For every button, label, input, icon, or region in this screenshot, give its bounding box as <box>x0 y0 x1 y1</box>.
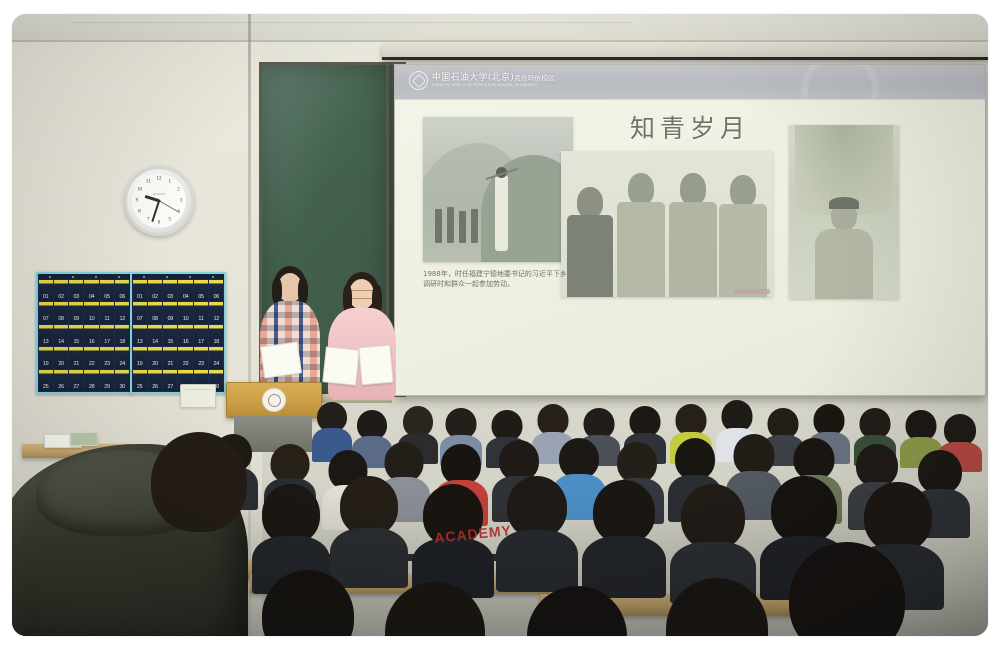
pocket-number: 17 <box>104 340 110 347</box>
presentation-slide: 中国石油大学(北京)克拉玛依校区 CHINA UNIVERSITY OF PET… <box>395 65 985 395</box>
pocket-cell: 20 <box>148 347 162 369</box>
pocket-cell: 19 <box>39 347 53 369</box>
pocket-cell: 16 <box>178 325 192 347</box>
caption-rural-inspection: 1988年，时任福建宁德地委书记的习近平下乡调研时和群众一起参加劳动。 <box>423 269 573 289</box>
pocket-cell: 05 <box>194 280 208 302</box>
pocket-number: 13 <box>137 340 143 347</box>
slide-title: 知青岁月 <box>630 109 750 145</box>
pocket-row: 19 20 21 22 23 24 <box>38 347 130 370</box>
pocket-number: 10 <box>183 317 189 324</box>
pocket-cell: 24 <box>209 347 223 369</box>
pocket-number: 11 <box>104 317 109 324</box>
presenter-left <box>258 266 322 396</box>
header-watermark-ring <box>801 65 879 100</box>
student-head <box>789 542 905 636</box>
pocket-row: 13 14 15 16 17 18 <box>38 324 130 347</box>
pocket-cell: 10 <box>84 302 98 324</box>
presenter-right <box>328 272 398 400</box>
pocket-number: 09 <box>74 317 80 324</box>
list-item <box>772 542 922 636</box>
pocket-cell: 18 <box>115 325 129 347</box>
wall-seam <box>248 14 251 636</box>
pocket-number: 11 <box>198 317 203 324</box>
pocket-cell: 12 <box>115 302 129 324</box>
pocket-cell: 11 <box>194 302 208 324</box>
pocket-cell: 09 <box>69 302 83 324</box>
pocket-cell: 21 <box>163 347 177 369</box>
pocket-number: 08 <box>152 317 158 324</box>
pocket-cell: 13 <box>133 325 147 347</box>
student-head <box>559 438 599 479</box>
university-name-paren: (北京) <box>488 73 514 83</box>
clock-number-5: 5 <box>169 218 172 223</box>
youth-body <box>669 202 717 297</box>
pocket-cell: 27 <box>163 370 177 392</box>
ceiling-panel-line <box>72 22 632 23</box>
pocket-cell: 22 <box>178 347 192 369</box>
pocket-cell: 18 <box>209 325 223 347</box>
portrait-cap <box>829 197 859 209</box>
student-head <box>262 484 320 544</box>
pocket-number: 27 <box>74 385 80 392</box>
university-name-cn: 中国石油大学(北京)克拉玛依校区 <box>432 74 555 83</box>
student-head <box>734 434 775 476</box>
pocket-cell: 14 <box>54 325 68 347</box>
pocket-number: 20 <box>58 362 64 369</box>
pocket-number: 01 <box>137 295 143 302</box>
pocket-number: 06 <box>120 295 126 302</box>
pocket-cell: 23 <box>100 347 114 369</box>
pocket-cell: 06 <box>115 280 129 302</box>
pocket-number: 03 <box>168 295 174 302</box>
pocket-cell: 26 <box>54 370 68 392</box>
pocket-cell: 15 <box>163 325 177 347</box>
pocket-number: 15 <box>74 340 80 347</box>
worker-figure <box>471 209 478 243</box>
student-head <box>675 438 715 480</box>
youth-figure <box>617 173 665 297</box>
pocket-cell: 07 <box>133 302 147 324</box>
pocket-row: 07 08 09 10 11 12 <box>38 302 130 325</box>
pocket-number: 01 <box>43 295 49 302</box>
university-name-main: 中国石油大学 <box>432 73 488 83</box>
pocket-number: 18 <box>214 340 220 347</box>
clock-minute-hand <box>151 201 160 223</box>
youth-figure <box>567 187 613 297</box>
image-frame: 12 1 2 3 4 5 6 7 8 9 10 11 QUARTZ 01 02 … <box>0 0 1000 666</box>
university-logo-text: 中国石油大学(北京)克拉玛依校区 CHINA UNIVERSITY OF PET… <box>432 74 555 88</box>
youth-body <box>719 204 767 297</box>
university-name-en: CHINA UNIVERSITY OF PETROLEUM, BEIJING, … <box>432 84 555 87</box>
pocket-number: 13 <box>43 340 49 347</box>
worker-figure <box>435 209 442 243</box>
pocket-number: 27 <box>168 385 174 392</box>
pocket-number: 07 <box>43 317 49 324</box>
pocket-cell: 11 <box>100 302 114 324</box>
pocket-number: 16 <box>89 340 95 347</box>
classroom-photograph: 12 1 2 3 4 5 6 7 8 9 10 11 QUARTZ 01 02 … <box>12 14 988 636</box>
pocket-cell: 04 <box>84 280 98 302</box>
pocket-number: 04 <box>183 295 189 302</box>
pocket-number: 20 <box>152 362 158 369</box>
pocket-number: 22 <box>89 362 95 369</box>
student-head <box>262 570 354 636</box>
clock-center-pin <box>158 200 161 203</box>
pocket-cell: 19 <box>133 347 147 369</box>
pocket-cell: 09 <box>163 302 177 324</box>
pocket-cell: 14 <box>148 325 162 347</box>
pocket-number: 09 <box>168 317 174 324</box>
pocket-number: 25 <box>43 385 49 392</box>
pocket-cell: 15 <box>69 325 83 347</box>
pocket-number: 05 <box>198 295 204 302</box>
photo-date-stamp <box>734 289 770 294</box>
pocket-row: 19 20 21 22 23 24 <box>132 347 224 370</box>
pocket-cell: 02 <box>54 280 68 302</box>
pocket-cell: 21 <box>69 347 83 369</box>
pocket-number: 17 <box>198 340 204 347</box>
phone-pocket-chart-right: 01 02 03 04 05 06 07 08 09 10 11 12 13 1… <box>130 272 226 394</box>
clock-number-12: 12 <box>157 176 162 181</box>
pocket-number: 15 <box>168 340 174 347</box>
list-item <box>512 586 642 636</box>
student-head <box>151 432 247 532</box>
pocket-cell: 25 <box>39 370 53 392</box>
pocket-cell: 10 <box>178 302 192 324</box>
pocket-number: 25 <box>137 385 143 392</box>
university-seal-icon <box>409 71 428 90</box>
projection-screen: 中国石油大学(北京)克拉玛依校区 CHINA UNIVERSITY OF PET… <box>394 64 986 396</box>
student-head <box>794 438 835 480</box>
clock-number-6: 6 <box>158 221 161 226</box>
student-head <box>617 442 657 483</box>
pocket-row: 01 02 03 04 05 06 <box>38 279 130 302</box>
clock-number-8: 8 <box>138 209 141 214</box>
pocket-row: 25 26 27 28 29 30 <box>38 369 130 392</box>
youth-body <box>617 202 665 297</box>
student-head <box>385 582 485 636</box>
pocket-number: 19 <box>43 362 49 369</box>
pocket-number: 06 <box>214 295 220 302</box>
pocket-cell: 23 <box>194 347 208 369</box>
central-figure <box>495 175 508 251</box>
pocket-row: 01 02 03 04 05 06 <box>132 279 224 302</box>
pocket-cell: 02 <box>148 280 162 302</box>
pocket-cell: 28 <box>84 370 98 392</box>
pocket-number: 19 <box>137 362 143 369</box>
presenter-left-hair-side <box>298 278 308 304</box>
clock-face: 12 1 2 3 4 5 6 7 8 9 10 11 QUARTZ <box>132 174 186 228</box>
wall-control-box <box>180 384 216 408</box>
pocket-number: 02 <box>152 295 158 302</box>
pocket-number: 28 <box>89 385 95 392</box>
pocket-number: 21 <box>168 362 174 369</box>
presenter-left-script <box>260 342 302 379</box>
pocket-cell: 12 <box>209 302 223 324</box>
podium-university-seal-icon <box>262 388 286 412</box>
pocket-cell: 04 <box>178 280 192 302</box>
clock-number-10: 10 <box>137 188 142 193</box>
ceiling-edge-line <box>12 40 988 42</box>
pocket-number: 14 <box>58 340 64 347</box>
pocket-cell: 17 <box>194 325 208 347</box>
student-head <box>499 440 539 481</box>
pocket-number: 18 <box>120 340 126 347</box>
pocket-cell: 27 <box>69 370 83 392</box>
pocket-cell: 08 <box>148 302 162 324</box>
list-item <box>248 570 368 636</box>
pocket-cell: 03 <box>69 280 83 302</box>
student-head <box>856 444 898 487</box>
portrait-body <box>815 229 873 299</box>
pocket-number: 05 <box>104 295 110 302</box>
university-logo: 中国石油大学(北京)克拉玛依校区 CHINA UNIVERSITY OF PET… <box>409 71 555 90</box>
clock-number-9: 9 <box>136 199 139 204</box>
pocket-number: 10 <box>89 317 95 324</box>
pocket-cell: 01 <box>133 280 147 302</box>
worker-figure <box>459 211 466 243</box>
pocket-cell: 01 <box>39 280 53 302</box>
pocket-number: 12 <box>214 317 220 324</box>
pocket-number: 16 <box>183 340 189 347</box>
pocket-number: 29 <box>104 385 110 392</box>
pocket-number: 22 <box>183 362 189 369</box>
clock-number-2: 2 <box>177 188 180 193</box>
pocket-number: 30 <box>120 385 126 392</box>
pocket-number: 23 <box>104 362 110 369</box>
clock-number-7: 7 <box>147 218 150 223</box>
student-head <box>681 484 745 550</box>
student-head <box>593 480 655 544</box>
clock-second-hand <box>159 201 179 213</box>
pocket-number: 02 <box>58 295 64 302</box>
wall-clock: 12 1 2 3 4 5 6 7 8 9 10 11 QUARTZ <box>124 166 194 236</box>
pocket-number: 26 <box>58 385 64 392</box>
student-head <box>666 578 768 636</box>
slide-photo-portrait-willow <box>789 125 899 299</box>
chart-top-grommets <box>38 274 130 279</box>
phone-pocket-chart-left: 01 02 03 04 05 06 07 08 09 10 11 12 13 1… <box>36 272 132 394</box>
pocket-cell: 29 <box>100 370 114 392</box>
pocket-row: 13 14 15 16 17 18 <box>132 324 224 347</box>
pocket-cell: 26 <box>148 370 162 392</box>
student-head <box>527 586 627 636</box>
student-body <box>496 530 578 592</box>
pocket-cell: 05 <box>100 280 114 302</box>
youth-figure <box>719 175 767 297</box>
clock-number-3: 3 <box>180 199 183 204</box>
clock-brand-text: QUARTZ <box>153 192 165 196</box>
campus-name-cn: 克拉玛依校区 <box>514 74 555 82</box>
pocket-number: 21 <box>74 362 80 369</box>
pocket-cell: 20 <box>54 347 68 369</box>
student-head <box>340 476 398 536</box>
clock-number-11: 11 <box>146 179 151 184</box>
youth-head <box>577 187 603 218</box>
list-item <box>652 578 782 636</box>
pocket-cell: 24 <box>115 347 129 369</box>
presenter-right-script <box>322 346 360 385</box>
pocket-cell: 30 <box>115 370 129 392</box>
pocket-number: 08 <box>58 317 64 324</box>
pocket-cell: 13 <box>39 325 53 347</box>
presenter-right-script-second <box>358 345 393 386</box>
pocket-cell: 08 <box>54 302 68 324</box>
projector-screen-housing <box>382 44 988 60</box>
list-item <box>370 582 500 636</box>
pocket-cell: 07 <box>39 302 53 324</box>
slide-header-band: 中国石油大学(北京)克拉玛依校区 CHINA UNIVERSITY OF PET… <box>395 65 985 100</box>
slide-photo-four-youths <box>561 151 773 297</box>
chart-top-grommets <box>132 274 224 279</box>
slide-body: 知青岁月 <box>395 99 985 395</box>
wooden-podium <box>226 382 322 418</box>
student-head <box>441 444 481 485</box>
clock-number-1: 1 <box>169 179 172 184</box>
pocket-number: 07 <box>137 317 143 324</box>
pocket-number: 03 <box>74 295 80 302</box>
youth-head <box>730 175 756 207</box>
pocket-number: 23 <box>198 362 204 369</box>
pocket-cell: 16 <box>84 325 98 347</box>
pocket-row: 07 08 09 10 11 12 <box>132 302 224 325</box>
youth-figure <box>669 173 717 297</box>
books-on-desk <box>70 432 98 446</box>
pocket-cell: 17 <box>100 325 114 347</box>
worker-figure <box>447 207 454 243</box>
youth-head <box>680 173 706 205</box>
student-head <box>771 476 837 544</box>
foreground-student-head <box>144 432 254 542</box>
pocket-cell: 03 <box>163 280 177 302</box>
pocket-cell: 06 <box>209 280 223 302</box>
pocket-number: 14 <box>152 340 158 347</box>
pocket-cell: 25 <box>133 370 147 392</box>
pocket-number: 24 <box>120 362 126 369</box>
ceiling <box>12 14 988 40</box>
pocket-number: 26 <box>152 385 158 392</box>
youth-head <box>628 173 654 205</box>
pocket-number: 24 <box>214 362 220 369</box>
youth-body <box>567 215 613 297</box>
pocket-cell: 22 <box>84 347 98 369</box>
pocket-number: 12 <box>120 317 126 324</box>
pocket-number: 04 <box>89 295 95 302</box>
slide-photo-rural-inspection <box>423 117 573 262</box>
